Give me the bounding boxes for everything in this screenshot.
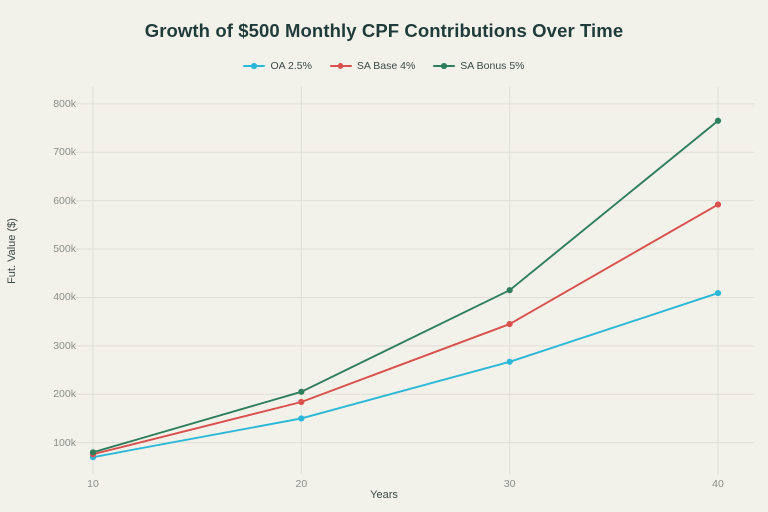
series-line-0 [93, 293, 718, 457]
data-point[interactable] [715, 201, 721, 207]
data-point[interactable] [90, 449, 96, 455]
y-axis-tick-label: 100k [28, 437, 76, 449]
plot-area: 100k200k300k400k500k600k700k800k10203040 [0, 0, 768, 512]
y-axis-tick-label: 400k [28, 291, 76, 303]
y-axis-tick-label: 300k [28, 340, 76, 352]
data-point[interactable] [715, 290, 721, 296]
chart-canvas [0, 0, 768, 512]
y-axis-tick-label: 600k [28, 195, 76, 207]
x-axis-title: Years [0, 489, 768, 501]
y-axis-tick-label: 200k [28, 388, 76, 400]
data-point[interactable] [507, 287, 513, 293]
data-point[interactable] [298, 399, 304, 405]
y-axis-tick-label: 500k [28, 243, 76, 255]
series-line-1 [93, 205, 718, 455]
series-line-2 [93, 121, 718, 453]
data-point[interactable] [298, 389, 304, 395]
y-axis-title: Fut. Value ($) [6, 206, 18, 296]
y-axis-tick-label: 700k [28, 146, 76, 158]
data-point[interactable] [715, 118, 721, 124]
data-point[interactable] [507, 359, 513, 365]
chart-root: Growth of $500 Monthly CPF Contributions… [0, 0, 768, 512]
y-axis-tick-label: 800k [28, 98, 76, 110]
data-point[interactable] [298, 415, 304, 421]
data-point[interactable] [507, 321, 513, 327]
